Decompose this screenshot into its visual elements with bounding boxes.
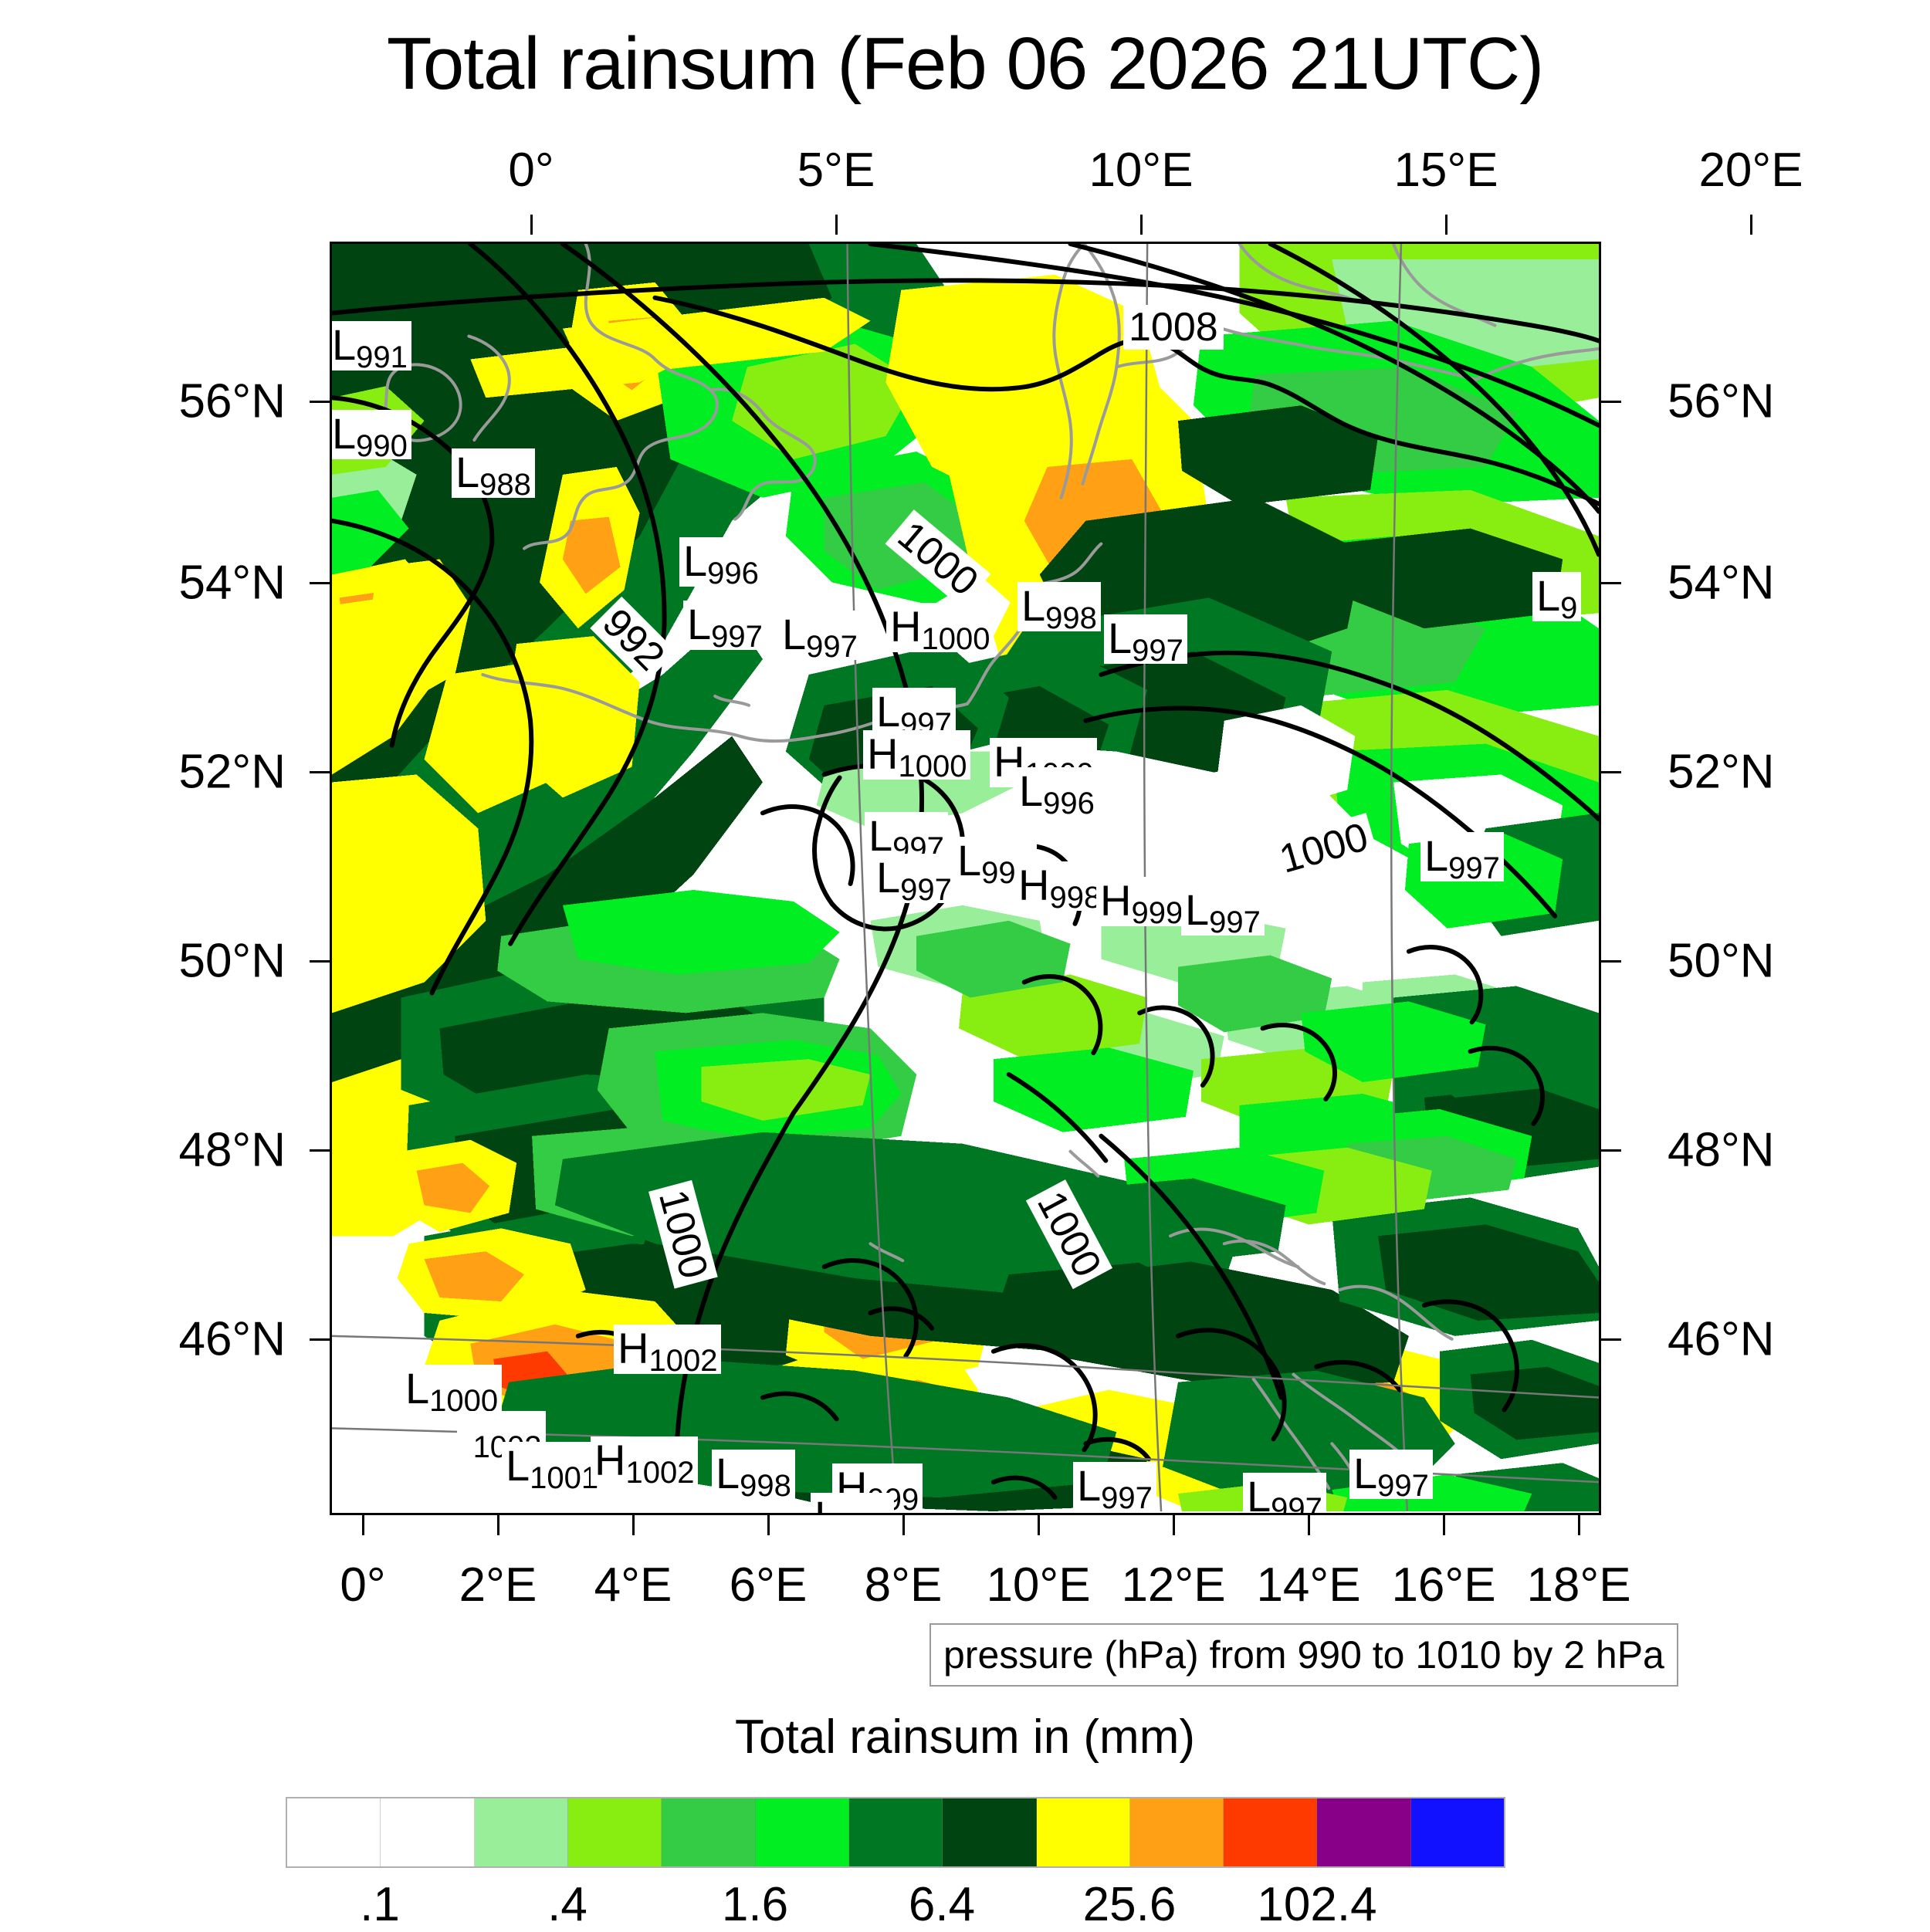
axis-label-bottom-9: 18°E [1526,1558,1630,1612]
axis-tick-bottom [497,1515,499,1535]
axis-label-top-3: 15°E [1393,143,1498,198]
colorbar[interactable] [286,1797,1505,1868]
axis-label-left-0: 56°N [178,374,286,429]
axis-tick-bottom [1578,1515,1580,1535]
pressure-marker: H1002 [591,1436,698,1486]
colorbar-tick-0: .1 [360,1877,400,1932]
pressure-marker: L997 [683,601,767,650]
axis-tick-right [1601,1149,1621,1152]
pressure-marker: L998 [811,1493,894,1515]
pressure-marker: L998 [712,1450,795,1499]
axis-tick-top [1750,215,1752,235]
axis-label-left-1: 54°N [178,556,286,611]
pressure-marker: H1000 [886,603,994,652]
pressure-marker: L997 [1420,832,1504,881]
colorbar-cell-11 [1317,1798,1410,1866]
colorbar-cell-7 [943,1798,1036,1866]
axis-label-bottom-2: 4°E [594,1558,672,1612]
pressure-marker: L991 [330,321,411,370]
pressure-marker: L9 [1532,572,1581,621]
axis-label-bottom-1: 2°E [459,1558,537,1612]
colorbar-cell-9 [1130,1798,1224,1866]
pressure-marker: L997 [1243,1473,1326,1515]
colorbar-cell-12 [1411,1798,1504,1866]
colorbar-cell-4 [662,1798,755,1866]
axis-label-right-4: 48°N [1668,1123,1775,1178]
axis-tick-bottom [902,1515,905,1535]
axis-label-bottom-5: 10°E [986,1558,1090,1612]
axis-label-top-1: 5°E [797,143,875,198]
pressure-marker: L997 [1104,614,1187,664]
page-title: Total rainsum (Feb 06 2026 21UTC) [0,22,1930,107]
pressure-marker: L996 [679,537,763,587]
colorbar-cell-0 [287,1798,381,1866]
axis-label-bottom-0: 0° [340,1558,385,1612]
colorbar-tick-5: 102.4 [1257,1877,1376,1932]
colorbar-cell-6 [849,1798,943,1866]
axis-tick-right [1601,960,1621,963]
axis-tick-left [310,582,330,584]
colorbar-cell-8 [1037,1798,1130,1866]
axis-label-bottom-4: 8°E [865,1558,943,1612]
pressure-marker: L1001 [502,1442,602,1491]
pressure-marker: L997 [1349,1450,1433,1499]
axis-tick-top [1445,215,1447,235]
axis-label-right-5: 46°N [1668,1312,1775,1367]
axis-label-bottom-3: 6°E [730,1558,808,1612]
pressure-marker: L1000 [401,1365,502,1414]
axis-tick-left [310,401,330,403]
pressure-marker: L996 [1015,767,1099,817]
pressure-legend: pressure (hPa) from 990 to 1010 by 2 hPa [929,1623,1678,1687]
axis-tick-top [1140,215,1143,235]
pressure-marker: L988 [452,448,535,498]
axis-tick-left [310,1149,330,1152]
axis-label-bottom-7: 14°E [1256,1558,1360,1612]
map-panel[interactable]: L991 L990 L988 L996 L997 L997 H1000 L998… [330,242,1601,1515]
colorbar-tick-4: 25.6 [1083,1877,1177,1932]
axis-tick-right [1601,582,1621,584]
axis-tick-left [310,1338,330,1341]
pressure-marker: L997 [1073,1462,1156,1511]
axis-tick-right [1601,771,1621,773]
axis-tick-bottom [632,1515,635,1535]
axis-label-left-4: 48°N [178,1123,286,1178]
axis-tick-bottom [1308,1515,1310,1535]
axis-tick-bottom [1038,1515,1040,1535]
axis-label-bottom-8: 16°E [1391,1558,1495,1612]
axis-tick-right [1601,1338,1621,1341]
pressure-marker: H998 [1014,861,1105,911]
axis-label-left-5: 46°N [178,1312,286,1367]
colorbar-cell-5 [756,1798,849,1866]
axis-label-right-2: 52°N [1668,745,1775,800]
axis-label-right-3: 50°N [1668,934,1775,989]
pressure-marker: L997 [778,611,862,660]
axis-label-right-0: 56°N [1668,374,1775,429]
pressure-marker: L990 [330,410,411,459]
pressure-marker: H999 [1096,877,1187,926]
axis-label-top-4: 20°E [1698,143,1803,198]
colorbar-title: Total rainsum in (mm) [0,1710,1930,1765]
colorbar-cell-2 [475,1798,568,1866]
axis-label-bottom-6: 12°E [1121,1558,1225,1612]
pressure-marker: H1002 [614,1325,721,1374]
axis-tick-left [310,771,330,773]
colorbar-cell-10 [1224,1798,1317,1866]
axis-label-top-0: 0° [508,143,554,198]
axis-tick-bottom [362,1515,364,1535]
colorbar-cell-1 [381,1798,474,1866]
colorbar-tick-1: .4 [547,1877,587,1932]
contour-label-1008: 1008 [1123,305,1224,350]
axis-tick-bottom [1443,1515,1445,1535]
axis-tick-left [310,960,330,963]
axis-tick-right [1601,401,1621,403]
axis-label-right-1: 54°N [1668,556,1775,611]
pressure-marker: L998 [1017,582,1101,631]
colorbar-tick-2: 1.6 [722,1877,788,1932]
axis-tick-top [835,215,838,235]
axis-label-top-2: 10°E [1089,143,1193,198]
axis-label-left-2: 52°N [178,745,286,800]
pressure-marker: L997 [872,854,956,903]
colorbar-cell-3 [568,1798,662,1866]
colorbar-tick-3: 6.4 [909,1877,975,1932]
pressure-marker: L997 [1181,886,1265,936]
axis-tick-top [530,215,533,235]
axis-tick-bottom [767,1515,770,1535]
axis-tick-bottom [1173,1515,1175,1535]
pressure-marker: H1000 [863,730,970,780]
axis-label-left-3: 50°N [178,934,286,989]
